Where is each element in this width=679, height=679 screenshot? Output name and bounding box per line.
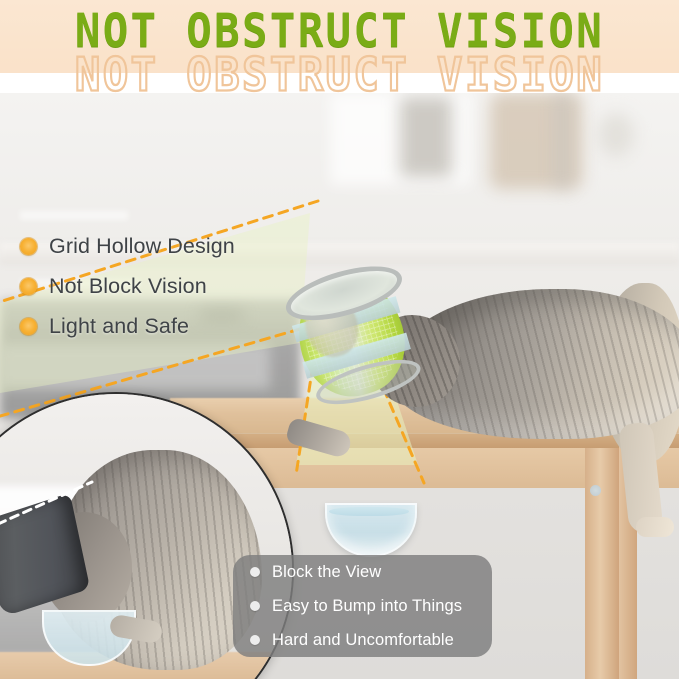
bullet-dot-icon	[20, 238, 37, 255]
bullet-dot-icon	[250, 567, 260, 577]
list-item: Hard and Uncomfortable	[250, 623, 492, 657]
drawback-label: Hard and Uncomfortable	[272, 631, 454, 650]
bowl-water-surface	[329, 507, 409, 516]
list-item: Block the View	[250, 555, 492, 589]
bullet-dot-icon	[20, 278, 37, 295]
list-item: Easy to Bump into Things	[250, 589, 492, 623]
wooden-table-leg	[585, 448, 619, 679]
header-band: NOT OBSTRUCT VISION NOT OBSTRUCT VISION	[0, 0, 679, 93]
table-screw	[590, 485, 601, 496]
bullet-dot-icon	[250, 635, 260, 645]
list-item: Not Block Vision	[20, 266, 235, 306]
list-item: Grid Hollow Design	[20, 226, 235, 266]
list-item: Light and Safe	[20, 306, 235, 346]
drawback-label: Easy to Bump into Things	[272, 597, 462, 616]
background-frame-right	[555, 93, 569, 189]
background-decor-jar	[598, 113, 634, 157]
product-feature-banner: NOT OBSTRUCT VISION NOT OBSTRUCT VISION	[0, 0, 679, 679]
background-oven-window	[0, 343, 270, 389]
feature-label: Light and Safe	[49, 314, 189, 339]
feature-list: Grid Hollow Design Not Block Vision Ligh…	[20, 226, 235, 346]
page-title: NOT OBSTRUCT VISION	[0, 8, 679, 54]
background-drawer-line-1	[20, 211, 128, 220]
feature-label: Not Block Vision	[49, 274, 207, 299]
drawbacks-callout-box: Block the View Easy to Bump into Things …	[233, 555, 492, 657]
blocked-sight-line-upper	[0, 482, 92, 524]
background-decor-vase	[400, 97, 452, 177]
headline-echo-text: NOT OBSTRUCT VISION	[0, 52, 679, 93]
feature-label: Grid Hollow Design	[49, 234, 235, 259]
bullet-dot-icon	[20, 318, 37, 335]
cat-rear-paw	[636, 517, 674, 537]
bullet-dot-icon	[250, 601, 260, 611]
drawback-label: Block the View	[272, 563, 381, 582]
